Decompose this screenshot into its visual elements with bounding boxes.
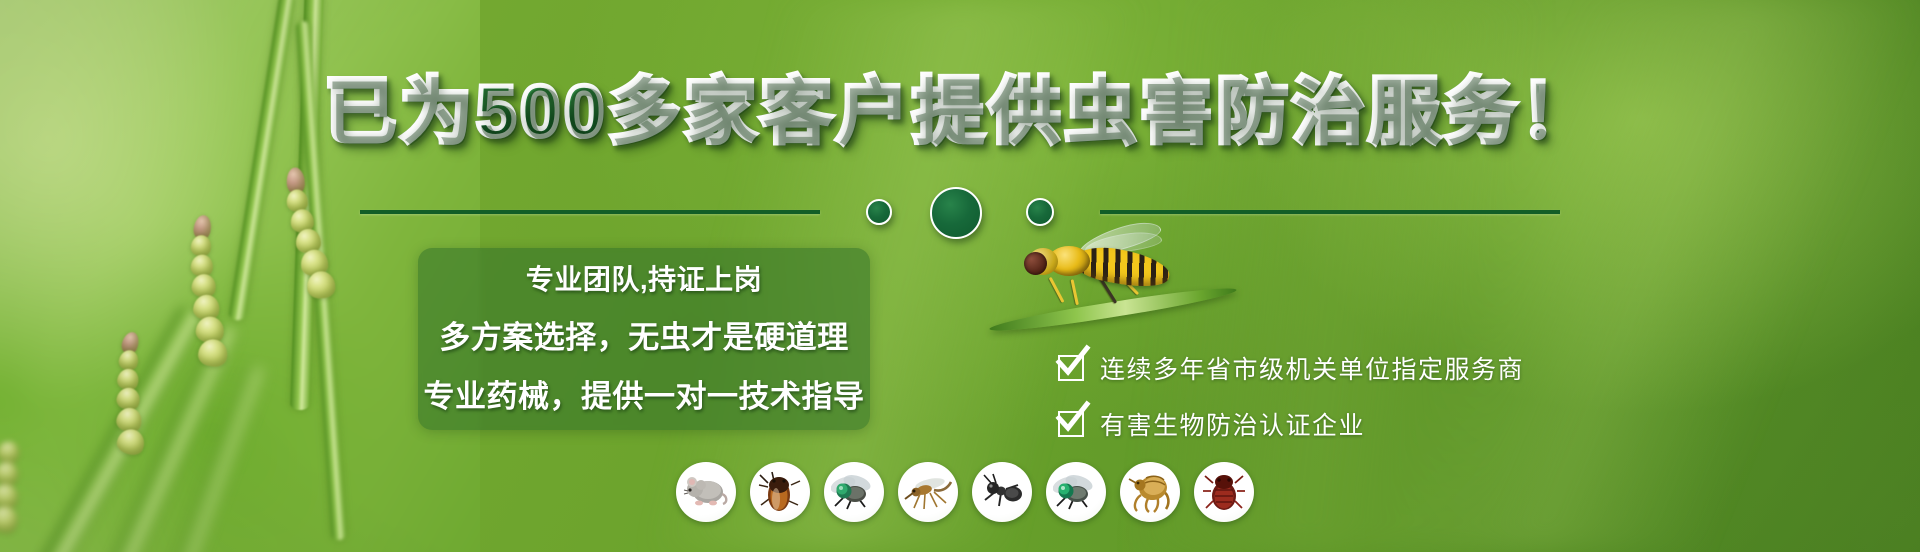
checklist-item-label: 有害生物防治认证企业 — [1100, 406, 1365, 442]
check-mark-icon — [1058, 411, 1084, 437]
decorative-divider — [0, 194, 1920, 246]
fly-eye — [1024, 252, 1047, 275]
cockroach-icon[interactable] — [750, 462, 810, 522]
panel-line-3: 专业药械，提供一对一技术指导 — [424, 371, 865, 416]
flea-icon[interactable] — [1120, 462, 1180, 522]
small-dot-icon — [1026, 198, 1054, 226]
fly-icon[interactable] — [824, 462, 884, 522]
check-mark-icon — [1058, 355, 1084, 381]
leaf-blade — [988, 283, 1237, 337]
mosquito-icon[interactable] — [898, 462, 958, 522]
small-dot-icon — [866, 199, 892, 225]
mouse-icon[interactable] — [676, 462, 736, 522]
panel-line-1: 专业团队,持证上岗 — [526, 258, 762, 298]
fly-leg — [1049, 277, 1065, 303]
hoverfly-illustration — [1000, 232, 1230, 342]
panel-line-2: 多方案选择，无虫才是硬道理 — [439, 312, 849, 357]
selling-points-panel: 专业团队,持证上岗 多方案选择，无虫才是硬道理 专业药械，提供一对一技术指导 — [418, 248, 870, 430]
checklist-item-label: 连续多年省市级机关单位指定服务商 — [1100, 350, 1524, 386]
pest-control-hero-banner: 已为500多家客户提供虫害防治服务！ 专业团队,持证上岗 多方案选择，无虫才是硬… — [0, 0, 1920, 552]
checklist-item: 连续多年省市级机关单位指定服务商 — [1058, 340, 1524, 396]
banner-headline: 已为500多家客户提供虫害防治服务！ — [0, 76, 1920, 148]
divider-rule-left — [360, 210, 820, 214]
pest-icon-row — [676, 462, 1254, 522]
checklist-item: 有害生物防治认证企业 — [1058, 396, 1524, 452]
large-dot-icon — [930, 187, 982, 239]
fly-leg — [1071, 279, 1079, 305]
blowfly-icon[interactable] — [1046, 462, 1106, 522]
bedbug-icon[interactable] — [1194, 462, 1254, 522]
ant-icon[interactable] — [972, 462, 1032, 522]
credentials-checklist: 连续多年省市级机关单位指定服务商 有害生物防治认证企业 — [1058, 340, 1524, 452]
divider-rule-right — [1100, 210, 1560, 214]
